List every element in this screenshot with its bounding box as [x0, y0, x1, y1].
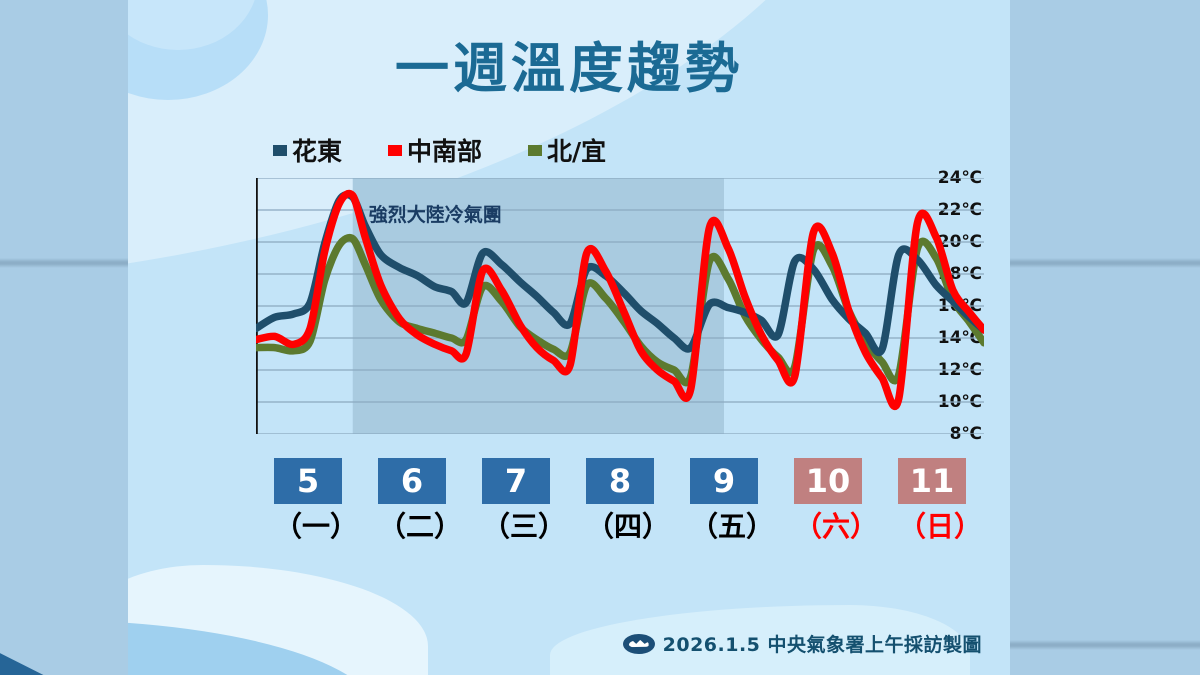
- legend-label-beiyi: 北/宜: [547, 132, 606, 168]
- day-number-badge: 11: [898, 458, 966, 504]
- day-column-7[interactable]: 7（三）: [482, 458, 550, 545]
- day-weekday-label: （一）: [274, 505, 342, 545]
- day-number-badge: 10: [794, 458, 862, 504]
- legend-label-huadong: 花東: [292, 132, 342, 168]
- chart-legend: 花東 中南部 北/宜: [273, 132, 606, 168]
- page-title: 一週溫度趨勢: [128, 24, 1010, 103]
- legend-item-beiyi[interactable]: 北/宜: [528, 132, 606, 168]
- day-weekday-label: （日）: [898, 505, 966, 545]
- day-number-badge: 8: [586, 458, 654, 504]
- legend-swatch-huadong: [273, 145, 287, 156]
- chart-plot-area: 強烈大陸冷氣團: [256, 178, 984, 434]
- letterbox-divider-line: [0, 258, 128, 268]
- day-column-11[interactable]: 11（日）: [898, 458, 966, 545]
- decorative-wave-bottom-light: [128, 565, 428, 675]
- cwa-logo-icon: [623, 634, 655, 654]
- day-weekday-label: （二）: [378, 505, 446, 545]
- legend-label-zhongnanbu: 中南部: [407, 132, 482, 168]
- day-weekday-label: （四）: [586, 505, 654, 545]
- temperature-chart: 24℃22℃20℃18℃16℃14℃12℃10℃8℃ 強烈大陸冷氣團: [164, 170, 990, 450]
- legend-swatch-zhongnanbu: [388, 145, 402, 156]
- letterbox-left: [0, 0, 128, 675]
- day-number-badge: 5: [274, 458, 342, 504]
- day-column-8[interactable]: 8（四）: [586, 458, 654, 545]
- cold-air-mass-label: 強烈大陸冷氣團: [369, 200, 502, 227]
- legend-swatch-beiyi: [528, 145, 542, 156]
- legend-item-zhongnanbu[interactable]: 中南部: [388, 132, 482, 168]
- day-axis: 5（一）6（二）7（三）8（四）9（五）10（六）11（日）: [128, 458, 1010, 553]
- legend-item-huadong[interactable]: 花東: [273, 132, 342, 168]
- day-number-badge: 7: [482, 458, 550, 504]
- weather-slide: 一週溫度趨勢 花東 中南部 北/宜 24℃22℃20℃18℃16℃14℃12℃1…: [128, 0, 1010, 675]
- day-number-badge: 6: [378, 458, 446, 504]
- chart-svg: [256, 178, 984, 434]
- day-column-10[interactable]: 10（六）: [794, 458, 862, 545]
- day-weekday-label: （三）: [482, 505, 550, 545]
- letterbox-divider-line-bottom: [1010, 640, 1200, 650]
- day-column-5[interactable]: 5（一）: [274, 458, 342, 545]
- letterbox-divider-line-right: [1010, 258, 1200, 268]
- day-number-badge: 9: [690, 458, 758, 504]
- day-column-6[interactable]: 6（二）: [378, 458, 446, 545]
- footer-credit-text: 2026.1.5 中央氣象署上午採訪製圖: [663, 630, 982, 657]
- day-column-9[interactable]: 9（五）: [690, 458, 758, 545]
- letterbox-right: [1010, 0, 1200, 675]
- footer: 2026.1.5 中央氣象署上午採訪製圖: [128, 630, 1010, 657]
- day-weekday-label: （六）: [794, 505, 862, 545]
- day-weekday-label: （五）: [690, 505, 758, 545]
